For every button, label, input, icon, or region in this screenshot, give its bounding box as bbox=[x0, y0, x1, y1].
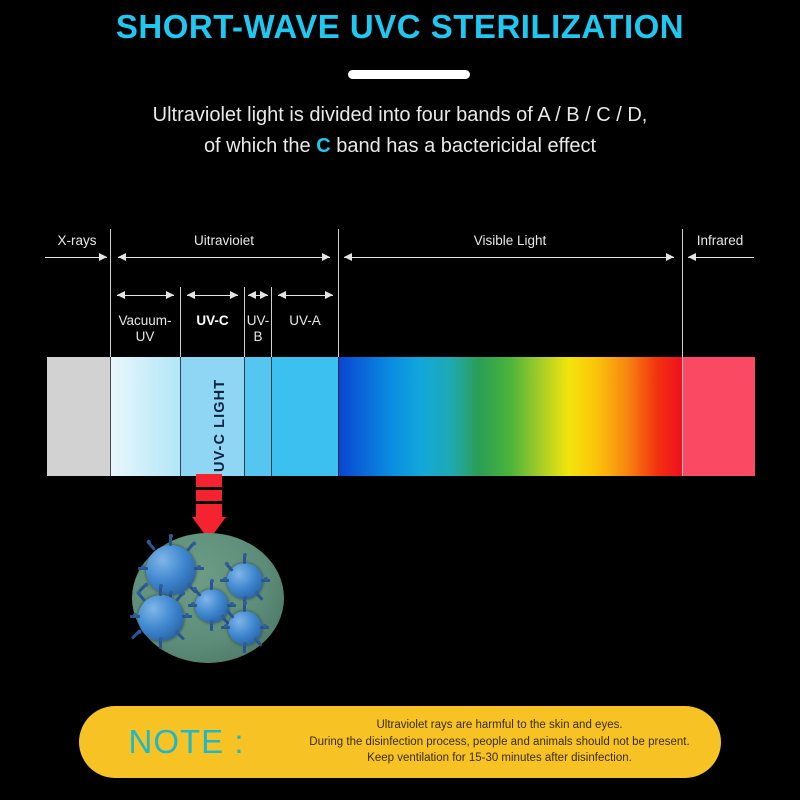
spectrum-segment-x-ray bbox=[47, 357, 110, 476]
infographic-page: SHORT-WAVE UVC STERILIZATION Ultraviolet… bbox=[0, 0, 800, 800]
spectrum-segment-vacuum-uv bbox=[110, 357, 180, 476]
subtitle-highlight-c: C bbox=[316, 135, 330, 157]
arrow-uv-b bbox=[248, 291, 268, 300]
spectrum-bar bbox=[47, 357, 755, 476]
note-body: Ultraviolet rays are harmful to the skin… bbox=[294, 717, 721, 767]
subtitle-line-1: Ultraviolet light is divided into four b… bbox=[0, 100, 800, 131]
bar-divider-uv-b bbox=[244, 357, 245, 476]
band-label-infrared: Infrared bbox=[682, 233, 758, 249]
spectrum-segment-uv-a bbox=[271, 357, 338, 476]
arrow-x-rays bbox=[45, 253, 107, 262]
page-title: SHORT-WAVE UVC STERILIZATION bbox=[0, 8, 800, 46]
spectrum-segment-uv-b bbox=[244, 357, 271, 476]
note-banner: NOTE : Ultraviolet rays are harmful to t… bbox=[79, 706, 721, 778]
bar-divider-infrared bbox=[682, 357, 683, 476]
arrow-visible-light bbox=[344, 253, 674, 262]
page-subtitle: Ultraviolet light is divided into four b… bbox=[0, 100, 800, 162]
arrow-uv-a bbox=[278, 291, 333, 300]
bar-divider-vacuum-uv bbox=[110, 357, 111, 476]
germ-cluster-illustration bbox=[132, 533, 284, 663]
arrow-uv-c bbox=[187, 291, 238, 300]
note-line-1: Ultraviolet rays are harmful to the skin… bbox=[294, 717, 705, 734]
subtitle-line-2: of which the C band has a bactericidal e… bbox=[0, 131, 800, 162]
band-label-x-rays: X-rays bbox=[45, 233, 109, 249]
note-line-2: During the disinfection process, people … bbox=[294, 734, 705, 751]
band-label-ultraviolet: Uitravioiet bbox=[110, 233, 338, 249]
spectrum-segment-infrared bbox=[682, 357, 755, 476]
arrow-infrared bbox=[688, 253, 754, 262]
bar-divider-uv-a bbox=[271, 357, 272, 476]
note-line-3: Keep ventilation for 15-30 minutes after… bbox=[294, 750, 705, 767]
virus-icon bbox=[138, 595, 184, 641]
subband-label-uv-a: UV-A bbox=[272, 313, 338, 329]
subband-label-uv-c: UV-C bbox=[181, 313, 244, 329]
virus-icon bbox=[228, 611, 262, 645]
bar-divider-visible bbox=[338, 357, 339, 476]
subtitle-line-2-post: band has a bactericidal effect bbox=[331, 135, 596, 157]
guide-line-infrared-start bbox=[682, 229, 683, 357]
title-divider bbox=[348, 70, 470, 79]
band-label-visible-light: Visible Light bbox=[338, 233, 682, 249]
guide-line-visible-start bbox=[338, 229, 339, 357]
subband-label-uv-b: UV-B bbox=[245, 313, 271, 345]
virus-icon bbox=[227, 563, 263, 599]
arrow-vacuum-uv bbox=[117, 291, 174, 300]
uvc-light-callout: UV-C LIGHT bbox=[212, 352, 228, 472]
uvc-beam-arrow-icon bbox=[192, 474, 226, 540]
spectrum-segment-visible bbox=[338, 357, 682, 476]
subtitle-line-2-pre: of which the bbox=[204, 135, 316, 157]
virus-icon bbox=[195, 589, 229, 623]
note-label: NOTE : bbox=[79, 723, 294, 761]
arrow-ultraviolet bbox=[118, 253, 330, 262]
subband-label-vacuum-uv: Vacuum-UV bbox=[110, 313, 180, 345]
virus-icon bbox=[146, 545, 196, 595]
bar-divider-uv-c bbox=[180, 357, 181, 476]
